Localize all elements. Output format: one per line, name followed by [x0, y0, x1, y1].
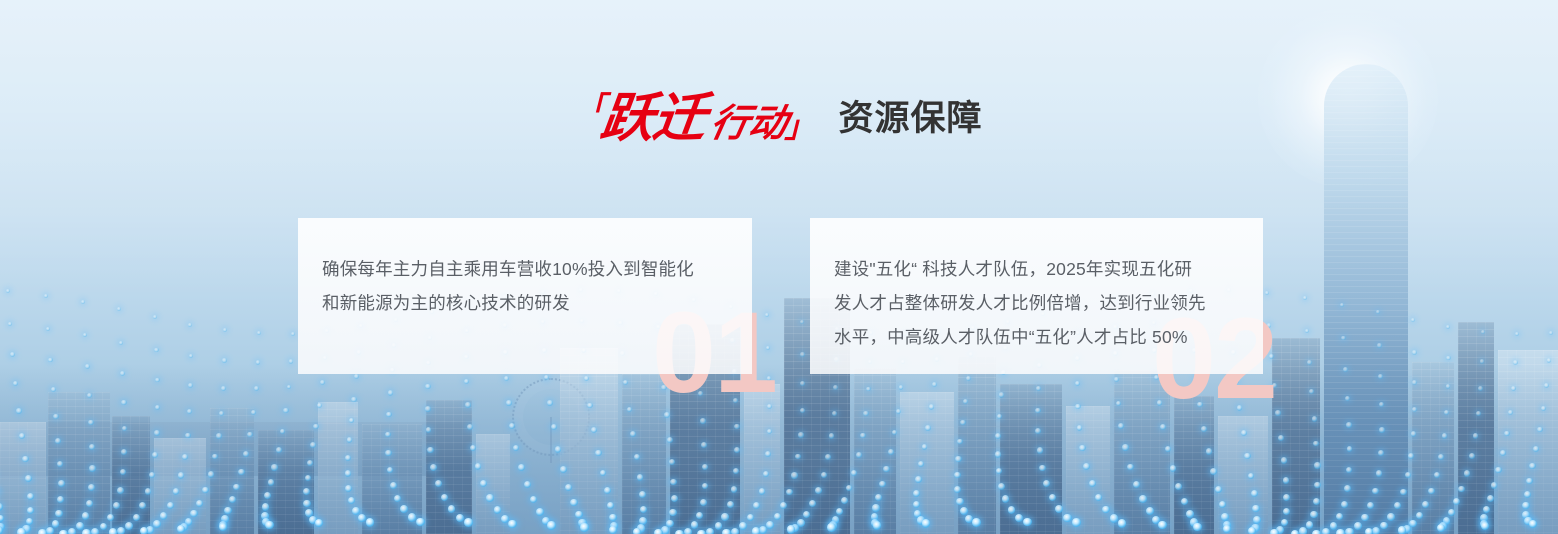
- network-dot: [1495, 467, 1501, 473]
- network-dot: [1283, 477, 1290, 484]
- network-dot: [863, 411, 868, 416]
- network-dot: [627, 407, 633, 413]
- network-dot: [303, 488, 310, 495]
- network-dot: [1055, 505, 1063, 513]
- network-dot: [530, 496, 537, 503]
- network-dot: [1409, 520, 1417, 528]
- network-dot: [153, 315, 157, 319]
- network-dot: [76, 522, 84, 530]
- content-card-01-text: 确保每年主力自主乘用车营收10%投入到智能化 和新能源为主的核心技术的研发: [322, 252, 726, 320]
- network-dot: [675, 530, 684, 534]
- network-dot: [109, 528, 118, 534]
- network-dot: [1533, 446, 1539, 452]
- network-dot: [832, 516, 840, 524]
- network-dot: [441, 494, 448, 501]
- network-dot: [46, 327, 50, 331]
- network-dot: [570, 499, 577, 506]
- network-dot: [998, 483, 1005, 490]
- network-dot: [1193, 523, 1202, 532]
- network-dot: [262, 518, 270, 526]
- network-dot: [722, 529, 731, 534]
- network-dot: [995, 451, 1001, 457]
- network-dot: [1438, 454, 1444, 460]
- logo-primary-text: 跃迁: [598, 92, 709, 145]
- network-dot: [430, 464, 437, 471]
- network-dot: [358, 514, 366, 522]
- ground-haze: [0, 364, 1558, 534]
- network-dot: [803, 511, 810, 518]
- network-dot: [1283, 508, 1290, 515]
- network-dot: [408, 513, 416, 521]
- network-dot: [1336, 513, 1343, 520]
- network-dot: [669, 459, 675, 465]
- network-dot: [1210, 468, 1217, 475]
- page-title: 资源保障: [839, 101, 983, 136]
- network-dot: [1347, 446, 1353, 452]
- network-dot: [955, 456, 961, 462]
- network-dot: [385, 432, 391, 438]
- network-dot: [892, 430, 898, 436]
- network-dot: [122, 426, 128, 432]
- network-dot: [1312, 416, 1318, 422]
- network-dot: [88, 420, 94, 426]
- network-dot: [289, 359, 293, 363]
- network-dot: [1181, 498, 1188, 505]
- network-dot: [1365, 528, 1374, 534]
- network-dot: [1079, 445, 1085, 451]
- network-dot: [1314, 462, 1320, 468]
- network-dot: [1341, 501, 1348, 508]
- network-dot: [1281, 457, 1287, 463]
- network-dot: [88, 484, 95, 491]
- network-dot: [268, 479, 275, 486]
- network-dot: [222, 358, 226, 362]
- network-dot: [1023, 518, 1032, 527]
- network-dot: [1008, 506, 1016, 514]
- network-dot: [221, 515, 229, 523]
- network-dot: [670, 479, 677, 486]
- network-dot: [1524, 491, 1531, 498]
- network-dot: [224, 507, 231, 514]
- network-dot: [1434, 472, 1440, 478]
- network-dot: [1114, 377, 1119, 382]
- content-card-01: 确保每年主力自主乘用车营收10%投入到智能化 和新能源为主的核心技术的研发: [298, 218, 752, 374]
- network-dot: [117, 487, 124, 494]
- network-dot: [584, 376, 589, 381]
- network-dot: [565, 484, 572, 491]
- network-dot: [684, 528, 692, 534]
- title-row: 「 跃迁 行动 」 资源保障: [0, 92, 1558, 145]
- network-dot: [809, 500, 816, 507]
- network-dot: [425, 384, 430, 389]
- network-dot: [1083, 463, 1090, 470]
- network-dot: [1248, 473, 1255, 480]
- network-dot: [265, 521, 274, 530]
- content-card-02-text: 建设"五化“ 科技人才队伍，2025年实现五化研 发人才占整体研发人才比例倍增，…: [834, 252, 1237, 354]
- network-dot: [1201, 426, 1207, 432]
- network-dot: [305, 475, 312, 482]
- network-dot: [425, 406, 431, 412]
- network-dot: [1446, 356, 1450, 360]
- network-dot: [310, 442, 316, 448]
- network-dot: [966, 376, 971, 381]
- network-dot: [1035, 408, 1041, 414]
- network-dot: [1270, 529, 1279, 534]
- network-dot: [1444, 410, 1449, 415]
- network-dot: [513, 445, 519, 451]
- campaign-logo: 「 跃迁 行动 」: [575, 92, 812, 145]
- slide-canvas: 01 02 「 跃迁 行动 」 资源保障 确保每年主力自主乘用车营收10%投入到…: [0, 0, 1558, 534]
- network-dot: [1378, 374, 1383, 379]
- network-dot: [1376, 310, 1380, 314]
- network-dot: [1310, 511, 1317, 518]
- building: [958, 356, 996, 534]
- network-dot: [1049, 494, 1056, 501]
- network-dot: [345, 470, 352, 477]
- building: [318, 402, 358, 534]
- network-dot: [580, 523, 589, 532]
- network-dot: [610, 522, 618, 530]
- network-dot: [256, 360, 260, 364]
- network-dot: [753, 502, 760, 509]
- network-dot: [153, 520, 161, 528]
- network-dot: [261, 512, 269, 520]
- network-dot: [178, 472, 184, 478]
- network-dot: [155, 405, 160, 410]
- network-dot: [1448, 509, 1455, 516]
- network-dot: [55, 510, 62, 517]
- network-dot: [416, 518, 425, 527]
- network-dot: [1491, 482, 1498, 489]
- network-dot: [733, 468, 739, 474]
- building: [154, 438, 206, 534]
- network-dot: [501, 515, 509, 523]
- network-dot: [354, 374, 359, 379]
- network-dot: [27, 507, 34, 514]
- network-dot: [152, 452, 158, 458]
- network-dot: [715, 522, 723, 530]
- network-dot: [307, 460, 313, 466]
- network-dot: [1354, 522, 1362, 530]
- network-dot: [212, 454, 218, 460]
- network-dot: [1442, 433, 1448, 439]
- network-dot: [309, 516, 317, 524]
- network-dot: [180, 523, 188, 531]
- network-dot: [609, 526, 618, 534]
- network-dot: [702, 483, 709, 490]
- network-dot: [1480, 520, 1488, 528]
- network-dot: [16, 408, 22, 414]
- network-dot: [1367, 502, 1374, 509]
- network-dot: [467, 424, 473, 430]
- network-dot: [117, 527, 125, 534]
- network-dot: [1473, 433, 1479, 439]
- network-dot: [1377, 343, 1381, 347]
- network-dot: [1015, 514, 1023, 522]
- network-dot: [555, 446, 561, 452]
- sky-haze: [0, 0, 1558, 300]
- network-dot: [1411, 431, 1417, 437]
- network-dot: [1412, 380, 1417, 385]
- network-dot: [6, 289, 10, 293]
- network-dot: [671, 495, 678, 502]
- network-dot: [1313, 498, 1320, 505]
- network-dot: [883, 466, 889, 472]
- network-dot: [22, 525, 30, 533]
- network-dot: [691, 521, 699, 529]
- network-dot: [470, 445, 476, 451]
- network-dot: [57, 496, 64, 503]
- network-dot: [271, 464, 277, 470]
- building: [1458, 322, 1494, 534]
- network-dot: [251, 410, 256, 415]
- waterfront: [0, 422, 470, 476]
- network-dot: [1291, 530, 1300, 534]
- network-dot: [190, 510, 197, 517]
- network-dot: [1387, 513, 1394, 520]
- network-dot: [1075, 381, 1080, 386]
- network-dot: [1036, 386, 1041, 391]
- network-dot: [486, 494, 493, 501]
- network-dot: [914, 510, 922, 518]
- network-dot: [1248, 527, 1257, 534]
- network-dot: [841, 497, 848, 504]
- logo-secondary-text: 行动: [708, 105, 791, 143]
- network-dot: [1160, 424, 1166, 430]
- network-dot: [1343, 367, 1348, 372]
- network-dot: [832, 411, 837, 416]
- network-dot: [640, 506, 647, 513]
- network-dot: [155, 378, 160, 383]
- network-dot: [1322, 528, 1330, 534]
- network-dot: [800, 320, 804, 324]
- network-dot: [654, 529, 663, 534]
- network-dot: [287, 385, 292, 390]
- network-dot: [696, 512, 703, 519]
- network-dot: [560, 466, 567, 473]
- network-dot: [963, 399, 968, 404]
- network-dot: [238, 469, 244, 475]
- network-dot: [957, 439, 963, 445]
- network-dot: [1398, 526, 1407, 534]
- network-dot: [702, 464, 708, 470]
- network-dot: [17, 528, 26, 534]
- network-dot: [913, 490, 920, 497]
- network-dot: [394, 495, 401, 502]
- network-dot: [1412, 350, 1416, 354]
- network-dot: [427, 447, 433, 453]
- network-dot: [188, 383, 193, 388]
- network-dot: [727, 501, 734, 508]
- network-dot: [117, 307, 121, 311]
- network-dot: [879, 481, 886, 488]
- network-dot: [89, 444, 95, 450]
- network-dot: [575, 511, 583, 519]
- network-dot: [667, 437, 673, 443]
- network-dot: [747, 514, 754, 521]
- network-dot: [85, 364, 90, 369]
- network-dot: [960, 420, 966, 426]
- building: [1066, 406, 1110, 534]
- network-dot: [146, 526, 154, 534]
- network-dot: [182, 454, 188, 460]
- network-dot: [1511, 386, 1516, 391]
- network-dot: [1372, 488, 1379, 495]
- network-dot: [759, 526, 767, 534]
- network-dot: [0, 526, 3, 534]
- network-dot: [1276, 526, 1284, 534]
- network-dot: [120, 469, 126, 475]
- network-dot: [83, 333, 87, 337]
- network-dot: [1252, 505, 1259, 512]
- network-dot: [954, 472, 961, 479]
- network-dot: [351, 397, 356, 402]
- network-dot: [833, 385, 838, 390]
- network-dot: [1547, 358, 1551, 362]
- network-dot: [767, 429, 773, 435]
- network-dot: [1275, 410, 1281, 416]
- network-dot: [630, 431, 636, 437]
- network-dot: [917, 516, 925, 524]
- network-dot: [1515, 332, 1519, 336]
- network-dot: [871, 513, 879, 521]
- network-dot: [1241, 430, 1247, 436]
- network-dot: [1529, 463, 1535, 469]
- network-dot: [821, 472, 827, 478]
- network-dot: [925, 425, 931, 431]
- network-dot: [145, 488, 152, 495]
- network-dot: [305, 509, 313, 517]
- network-dot: [52, 520, 60, 528]
- network-dot: [1344, 485, 1351, 492]
- network-dot: [185, 518, 193, 526]
- network-dot: [888, 449, 894, 455]
- network-dot: [1037, 447, 1043, 453]
- network-dot: [82, 529, 91, 534]
- network-dot: [1303, 296, 1307, 300]
- network-dot: [27, 493, 34, 500]
- network-dot: [542, 517, 550, 525]
- network-dot: [390, 482, 397, 489]
- network-dot: [633, 528, 642, 534]
- network-dot: [0, 503, 3, 510]
- building: [1272, 338, 1320, 534]
- network-dot: [264, 492, 271, 499]
- network-dot: [1110, 514, 1118, 522]
- network-dot: [254, 386, 259, 391]
- network-dot: [524, 481, 531, 488]
- network-dot: [766, 521, 774, 529]
- network-dot: [149, 472, 155, 478]
- network-dot: [475, 463, 482, 470]
- network-dot: [0, 515, 4, 523]
- network-dot: [856, 452, 862, 458]
- network-dot: [1412, 407, 1417, 412]
- network-dot: [734, 424, 740, 430]
- network-dot: [1405, 472, 1411, 478]
- network-dot: [1122, 444, 1128, 450]
- network-dot: [1437, 524, 1446, 533]
- network-dot: [426, 427, 432, 433]
- network-dot: [1480, 359, 1484, 363]
- network-dot: [774, 513, 781, 520]
- network-dot: [55, 438, 61, 444]
- network-dot: [385, 450, 391, 456]
- network-dot: [1541, 406, 1546, 411]
- network-dot: [1307, 360, 1312, 365]
- network-dot: [997, 414, 1003, 420]
- network-dot: [873, 521, 882, 530]
- network-dot: [518, 464, 525, 471]
- network-dot: [639, 517, 647, 525]
- network-dot: [139, 502, 146, 509]
- network-dot: [1483, 506, 1490, 513]
- network-dot: [697, 530, 706, 534]
- network-dot: [752, 527, 761, 534]
- network-dot: [494, 506, 502, 514]
- network-dot: [1158, 521, 1167, 530]
- network-dot: [1443, 517, 1451, 525]
- network-dot: [1379, 402, 1384, 407]
- network-dot: [872, 504, 879, 511]
- network-dot: [954, 486, 961, 493]
- network-dot: [1077, 425, 1083, 431]
- network-dot: [247, 432, 253, 438]
- network-dot: [918, 461, 924, 467]
- network-dot: [303, 500, 310, 507]
- network-dot: [1309, 389, 1314, 394]
- building: [48, 392, 110, 534]
- network-dot: [591, 427, 597, 433]
- network-dot: [87, 393, 92, 398]
- network-dot: [10, 352, 15, 357]
- network-dot: [202, 487, 209, 494]
- network-dot: [1422, 501, 1429, 508]
- network-dot: [68, 528, 76, 534]
- network-dot: [121, 449, 127, 455]
- network-dot: [1481, 330, 1485, 334]
- network-dot: [1314, 482, 1321, 489]
- network-dot: [352, 507, 360, 515]
- network-dot: [797, 519, 805, 527]
- building: [1412, 362, 1454, 534]
- network-dot: [965, 515, 973, 523]
- network-dot: [701, 442, 707, 448]
- logo-bracket-right-icon: 」: [785, 113, 813, 143]
- network-dot: [1223, 521, 1231, 529]
- network-dot: [1526, 478, 1533, 485]
- network-dot: [1095, 494, 1102, 501]
- network-dot: [1513, 360, 1517, 364]
- network-dot: [119, 341, 123, 345]
- network-dot: [1446, 384, 1451, 389]
- network-dot: [1476, 411, 1481, 416]
- network-dot: [587, 403, 593, 409]
- network-dot: [1336, 529, 1345, 534]
- network-dot: [1529, 520, 1538, 529]
- network-dot: [1345, 396, 1350, 401]
- network-dot: [1480, 514, 1488, 522]
- network-dot: [1299, 527, 1307, 534]
- network-dot: [1089, 480, 1096, 487]
- network-dot: [283, 408, 288, 413]
- network-dot: [706, 528, 714, 534]
- network-dot: [996, 468, 1003, 475]
- network-dot: [960, 507, 968, 515]
- network-dot: [1478, 386, 1483, 391]
- building: [560, 348, 618, 534]
- network-dot: [829, 521, 837, 529]
